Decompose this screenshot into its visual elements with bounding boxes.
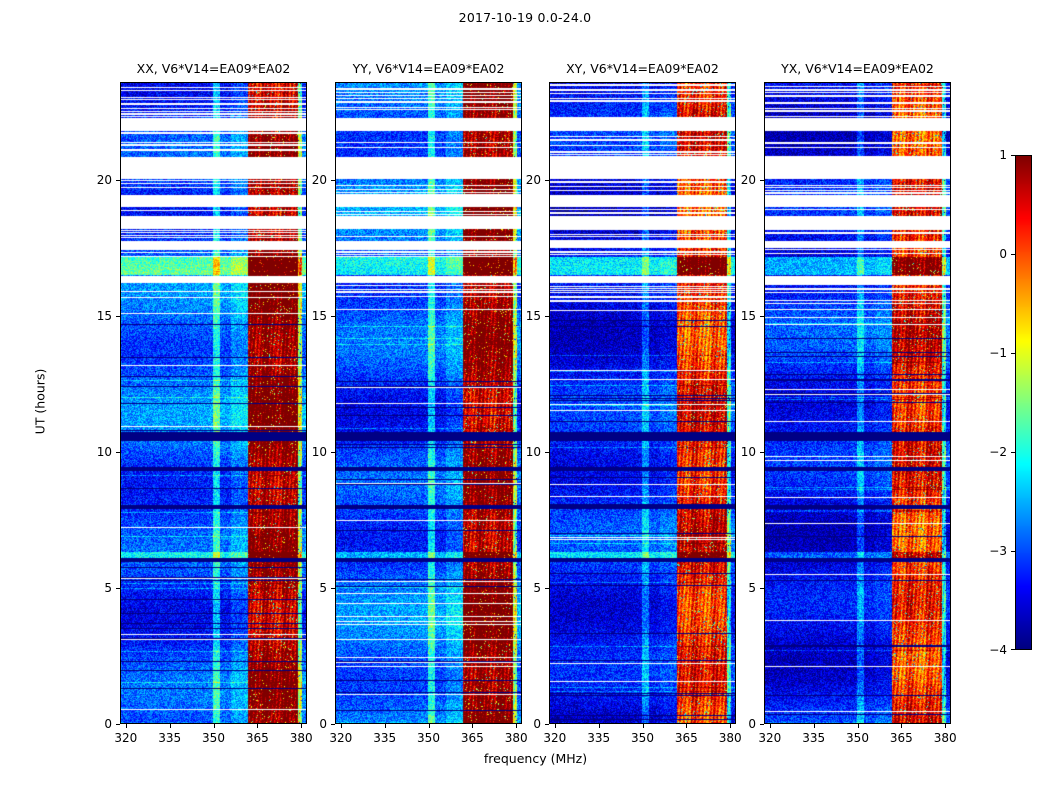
x-axis-label: frequency (MHz) [436, 751, 636, 766]
x-tick-label-xx-0: 320 [114, 731, 137, 745]
waterfall-panel-xx: XX, V6*V14=EA09*EA02 [120, 82, 307, 724]
x-tick-xx-3 [257, 724, 258, 728]
x-tick-label-yy-3: 365 [461, 731, 484, 745]
x-tick-label-yx-1: 335 [802, 731, 825, 745]
y-tick-label-yx-3: 15 [718, 309, 756, 323]
y-tick-xy-3 [545, 316, 549, 317]
y-tick-yy-4 [331, 180, 335, 181]
y-tick-xy-1 [545, 588, 549, 589]
spectrogram-image-xy [550, 83, 735, 723]
x-tick-label-xx-2: 350 [202, 731, 225, 745]
waterfall-panel-yx: YX, V6*V14=EA09*EA02 [764, 82, 951, 724]
y-tick-xx-3 [116, 316, 120, 317]
y-tick-label-xx-4: 20 [74, 173, 112, 187]
x-tick-yx-0 [770, 724, 771, 728]
x-tick-xy-3 [686, 724, 687, 728]
x-tick-label-xx-4: 380 [290, 731, 313, 745]
y-tick-label-yx-2: 10 [718, 445, 756, 459]
x-tick-xy-1 [599, 724, 600, 728]
x-tick-xy-2 [643, 724, 644, 728]
y-tick-label-yx-4: 20 [718, 173, 756, 187]
colorbar-tick-label-3: −2 [971, 445, 1007, 459]
figure-suptitle: 2017-10-19 0.0-24.0 [0, 10, 1050, 25]
y-tick-yx-2 [760, 452, 764, 453]
y-tick-yy-3 [331, 316, 335, 317]
waterfall-panel-xy: XY, V6*V14=EA09*EA02 [549, 82, 736, 724]
x-tick-yx-1 [814, 724, 815, 728]
y-tick-label-yx-0: 0 [718, 717, 756, 731]
y-tick-xx-0 [116, 724, 120, 725]
x-tick-label-xx-3: 365 [246, 731, 269, 745]
colorbar-tick-4 [1011, 551, 1015, 552]
y-tick-xx-2 [116, 452, 120, 453]
x-tick-yx-4 [945, 724, 946, 728]
colorbar-gradient [1015, 155, 1032, 650]
y-tick-yx-3 [760, 316, 764, 317]
y-axis-label: UT (hours) [33, 302, 48, 502]
x-tick-label-xy-0: 320 [543, 731, 566, 745]
y-tick-label-yy-1: 5 [289, 581, 327, 595]
y-tick-yy-2 [331, 452, 335, 453]
x-tick-label-yx-3: 365 [890, 731, 913, 745]
panel-title-yy: YY, V6*V14=EA09*EA02 [335, 61, 522, 76]
figure-canvas: 2017-10-19 0.0-24.0 XX, V6*V14=EA09*EA02… [0, 0, 1050, 800]
y-tick-label-xy-1: 5 [503, 581, 541, 595]
y-tick-xx-1 [116, 588, 120, 589]
y-tick-label-xy-0: 0 [503, 717, 541, 731]
y-tick-yx-1 [760, 588, 764, 589]
x-tick-label-xy-4: 380 [719, 731, 742, 745]
y-tick-label-xx-2: 10 [74, 445, 112, 459]
plot-area-xx[interactable] [120, 82, 307, 724]
x-tick-yy-1 [385, 724, 386, 728]
colorbar-tick-3 [1011, 452, 1015, 453]
x-tick-label-yx-0: 320 [758, 731, 781, 745]
x-tick-yx-3 [901, 724, 902, 728]
colorbar-tick-1 [1011, 254, 1015, 255]
y-tick-xy-4 [545, 180, 549, 181]
spectrogram-image-yy [336, 83, 521, 723]
x-tick-label-xy-1: 335 [587, 731, 610, 745]
x-tick-label-yy-2: 350 [417, 731, 440, 745]
y-tick-label-yy-0: 0 [289, 717, 327, 731]
x-tick-label-yy-4: 380 [505, 731, 528, 745]
y-tick-label-yy-2: 10 [289, 445, 327, 459]
spectrogram-image-yx [765, 83, 950, 723]
plot-area-xy[interactable] [549, 82, 736, 724]
y-tick-xy-2 [545, 452, 549, 453]
colorbar-tick-label-4: −3 [971, 544, 1007, 558]
y-tick-yy-0 [331, 724, 335, 725]
y-tick-label-xy-4: 20 [503, 173, 541, 187]
panel-title-yx: YX, V6*V14=EA09*EA02 [764, 61, 951, 76]
x-tick-xx-0 [126, 724, 127, 728]
spectrogram-image-xx [121, 83, 306, 723]
x-tick-label-yy-1: 335 [373, 731, 396, 745]
colorbar-tick-label-2: −1 [971, 346, 1007, 360]
x-tick-xy-0 [555, 724, 556, 728]
y-tick-label-xy-2: 10 [503, 445, 541, 459]
y-tick-xx-4 [116, 180, 120, 181]
colorbar-tick-label-5: −4 [971, 643, 1007, 657]
panel-title-xy: XY, V6*V14=EA09*EA02 [549, 61, 736, 76]
y-tick-label-yx-1: 5 [718, 581, 756, 595]
y-tick-yx-0 [760, 724, 764, 725]
x-tick-label-xy-3: 365 [675, 731, 698, 745]
y-tick-label-yy-3: 15 [289, 309, 327, 323]
y-tick-yy-1 [331, 588, 335, 589]
y-tick-yx-4 [760, 180, 764, 181]
x-tick-label-xx-1: 335 [158, 731, 181, 745]
x-tick-yy-0 [341, 724, 342, 728]
colorbar-tick-5 [1011, 649, 1015, 650]
x-tick-yy-3 [472, 724, 473, 728]
y-tick-label-xx-1: 5 [74, 581, 112, 595]
x-tick-label-xy-2: 350 [631, 731, 654, 745]
waterfall-panel-yy: YY, V6*V14=EA09*EA02 [335, 82, 522, 724]
x-tick-label-yx-2: 350 [846, 731, 869, 745]
y-tick-label-xx-3: 15 [74, 309, 112, 323]
colorbar [1015, 155, 1032, 650]
x-tick-yy-2 [429, 724, 430, 728]
plot-area-yx[interactable] [764, 82, 951, 724]
colorbar-tick-2 [1011, 353, 1015, 354]
x-tick-label-yx-4: 380 [934, 731, 957, 745]
colorbar-tick-0 [1011, 155, 1015, 156]
x-tick-yx-2 [858, 724, 859, 728]
y-tick-label-yy-4: 20 [289, 173, 327, 187]
x-tick-xx-1 [170, 724, 171, 728]
y-tick-label-xx-0: 0 [74, 717, 112, 731]
colorbar-canvas [1016, 156, 1031, 649]
y-tick-label-xy-3: 15 [503, 309, 541, 323]
colorbar-tick-label-1: 0 [971, 247, 1007, 261]
x-tick-xx-2 [214, 724, 215, 728]
y-tick-xy-0 [545, 724, 549, 725]
panel-title-xx: XX, V6*V14=EA09*EA02 [120, 61, 307, 76]
colorbar-tick-label-0: 1 [971, 148, 1007, 162]
x-tick-label-yy-0: 320 [329, 731, 352, 745]
plot-area-yy[interactable] [335, 82, 522, 724]
